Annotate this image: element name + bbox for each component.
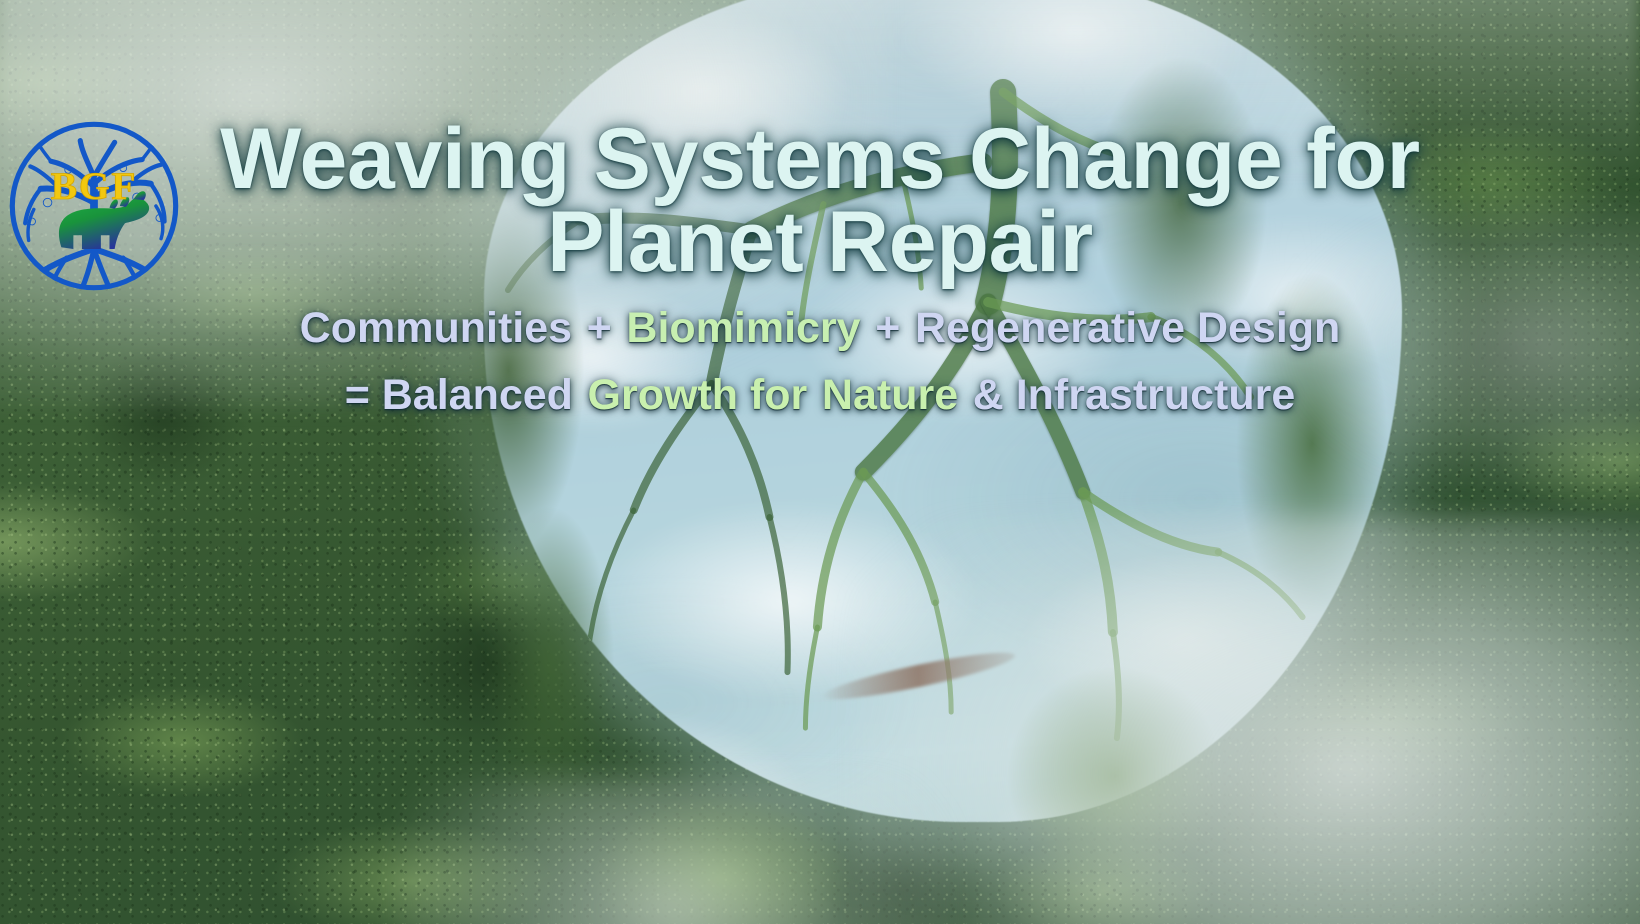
svg-text:BGF: BGF bbox=[51, 164, 137, 208]
background-photo bbox=[0, 0, 1640, 924]
mist-bottom-left bbox=[394, 776, 952, 924]
mist-bottom-right bbox=[853, 517, 1640, 924]
hero-banner: BGF Weaving Systems Change for Planet Re… bbox=[0, 0, 1640, 924]
bgf-logo[interactable]: BGF bbox=[8, 120, 180, 292]
mist-right bbox=[1279, 185, 1640, 499]
